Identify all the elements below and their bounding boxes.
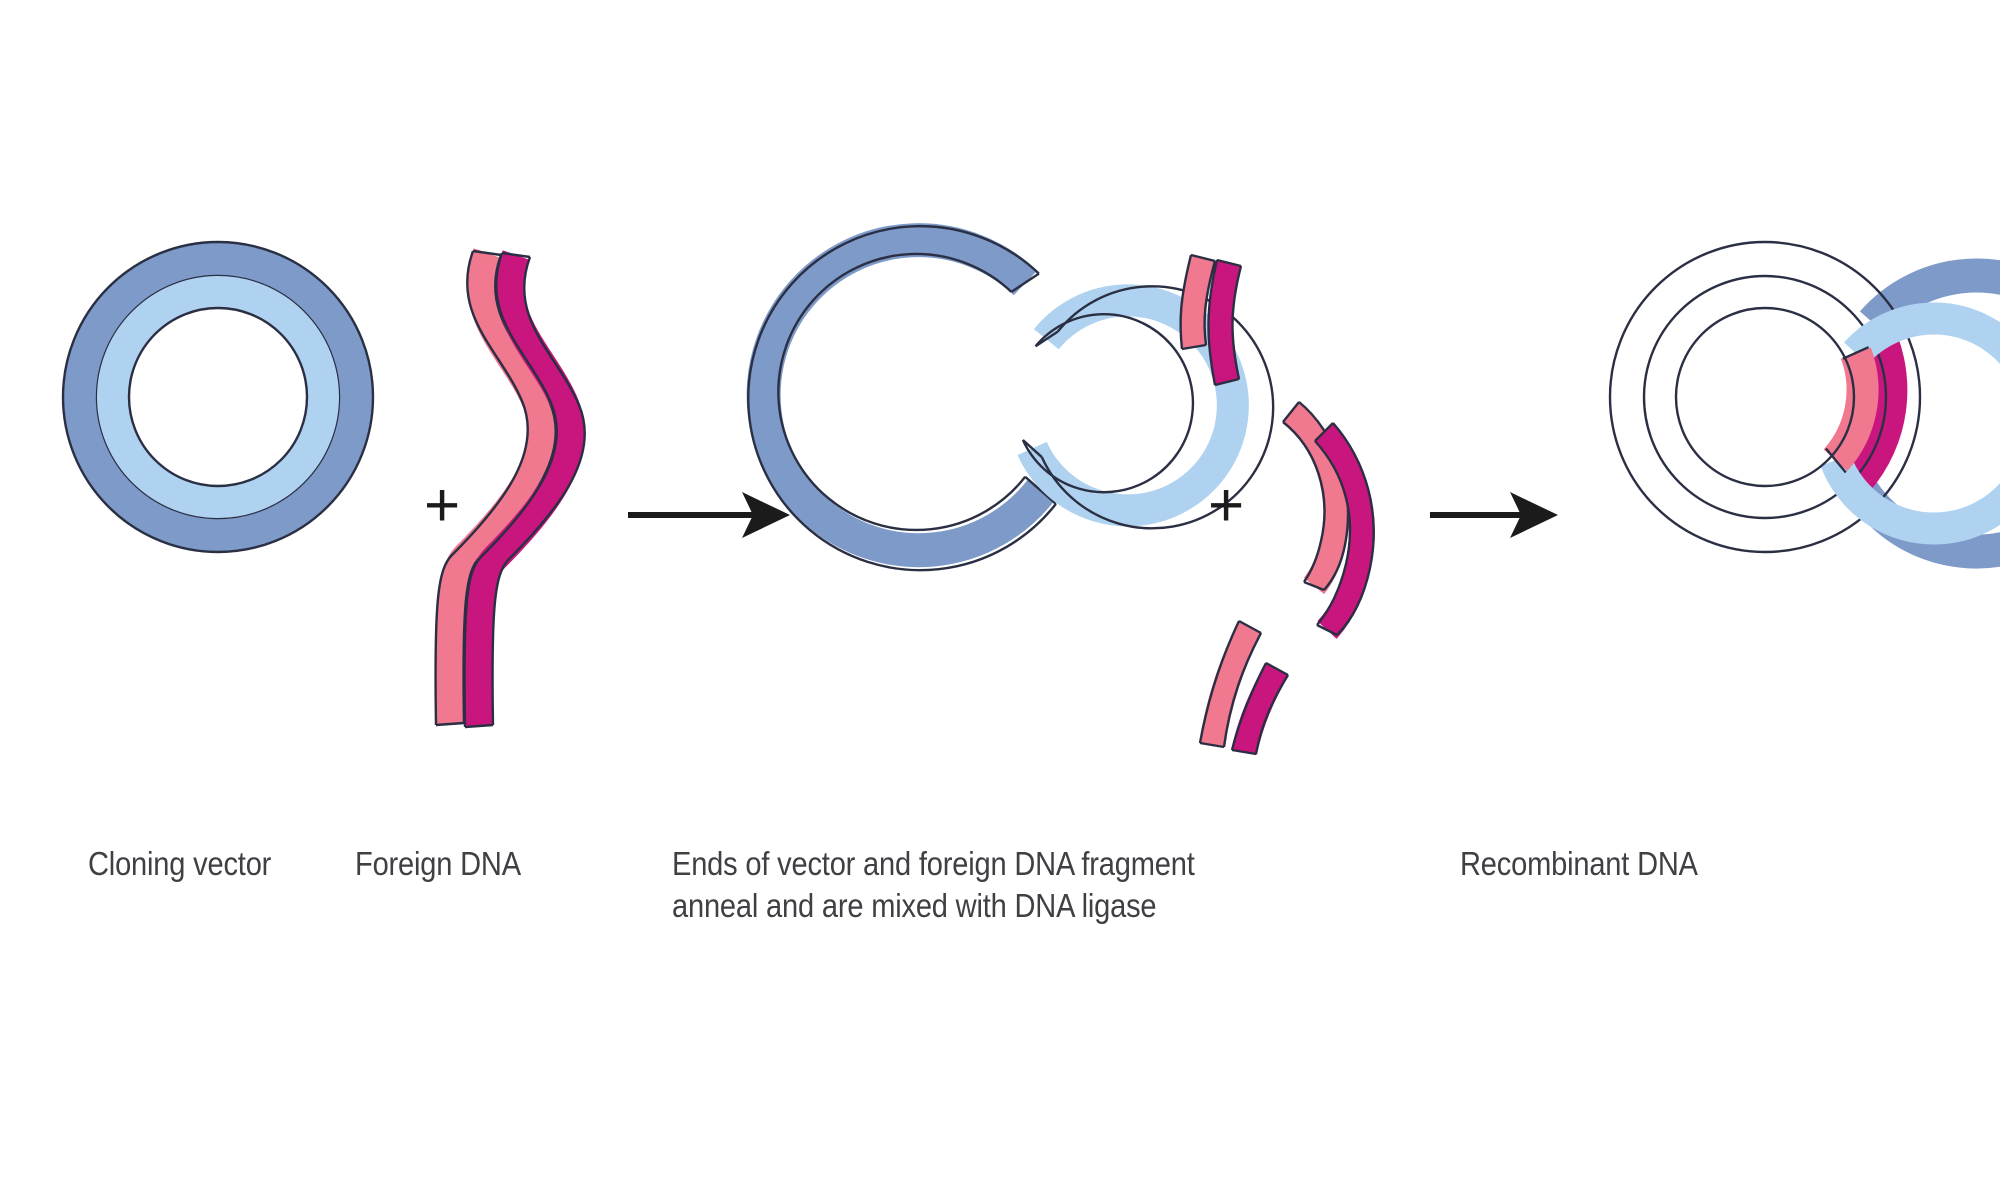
arrow-1 (628, 492, 790, 538)
arrow-2 (1430, 492, 1558, 538)
diagram-canvas: + + Cloning vector Foreign DNA Ends of v… (0, 0, 2000, 1185)
cloning-vector-plasmid (63, 242, 373, 552)
fragment-top-dark-strand (1220, 263, 1229, 382)
dna-fragment-bottom (1200, 621, 1288, 754)
caption-cloning-vector: Cloning vector (88, 843, 271, 885)
caption-anneal-step: Ends of vector and foreign DNA fragment … (672, 843, 1195, 927)
dna-fragment-top (1181, 255, 1241, 385)
caption-foreign-dna: Foreign DNA (355, 843, 521, 885)
fragment-bottom-dark-strand (1244, 669, 1277, 752)
recombinant-dna-plasmid (1610, 242, 2000, 552)
vector-inner-strand (113, 292, 323, 502)
fragment-top-light-strand (1193, 258, 1203, 347)
plus-operator-1: + (424, 475, 460, 537)
dna-cloning-diagram (0, 0, 2000, 1185)
plus-operator-2: + (1208, 475, 1244, 537)
caption-recombinant-dna: Recombinant DNA (1460, 843, 1698, 885)
dna-fragment-middle (1283, 402, 1374, 635)
